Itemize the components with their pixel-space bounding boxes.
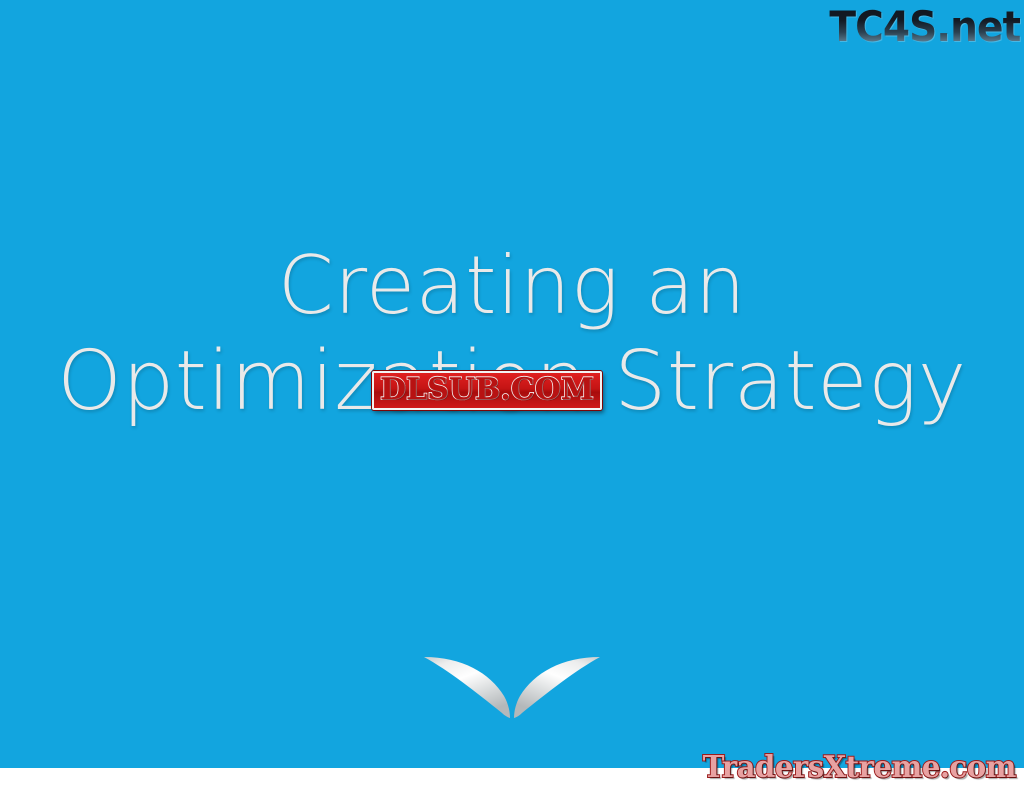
logo-right-wing	[514, 657, 600, 718]
watermark-tc4s: TC4S.net	[829, 2, 1020, 51]
watermark-dlsub: DLSUB.COM	[372, 371, 602, 410]
title-line-1: Creating an	[0, 238, 1024, 334]
logo-left-wing	[424, 657, 510, 718]
presentation-slide: Creating an Optimization Strategy	[0, 0, 1024, 794]
winged-v-logo	[418, 648, 606, 728]
watermark-tradersxtreme: TradersXtreme.com	[703, 751, 1016, 785]
